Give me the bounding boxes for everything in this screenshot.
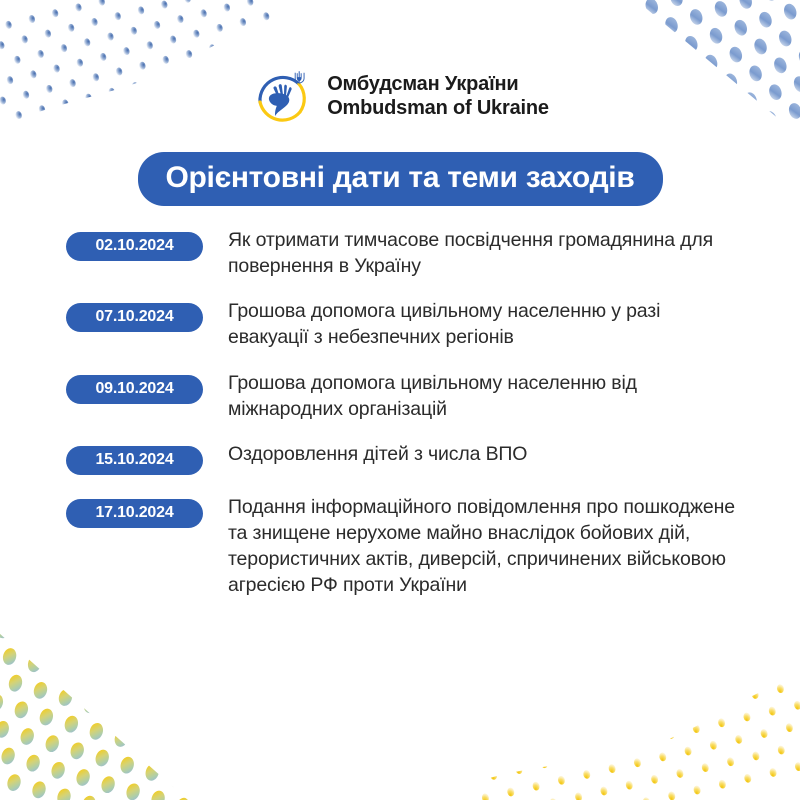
list-item: 15.10.2024 Оздоровлення дітей з числа ВП… bbox=[66, 442, 742, 475]
event-date-badge: 15.10.2024 bbox=[66, 446, 203, 475]
list-item: 07.10.2024 Грошова допомога цивільному н… bbox=[66, 299, 742, 350]
event-date-badge: 17.10.2024 bbox=[66, 499, 203, 528]
event-date-badge: 07.10.2024 bbox=[66, 303, 203, 332]
page-title: Орієнтовні дати та теми заходів bbox=[138, 152, 663, 206]
poster-canvas: Омбудсман України Ombudsman of Ukraine О… bbox=[0, 0, 800, 800]
brand-text-block: Омбудсман України Ombudsman of Ukraine bbox=[327, 73, 549, 120]
brand-name-en: Ombudsman of Ukraine bbox=[327, 97, 549, 121]
event-date-badge: 02.10.2024 bbox=[66, 232, 203, 261]
brand-logo: Омбудсман України Ombudsman of Ukraine bbox=[0, 66, 800, 128]
yellow-wave-halftone-pattern-icon bbox=[466, 636, 800, 800]
event-topic: Як отримати тимчасове посвідчення громад… bbox=[228, 228, 742, 279]
event-date-badge: 09.10.2024 bbox=[66, 375, 203, 404]
event-topic: Грошова допомога цивільному населенню ві… bbox=[228, 371, 742, 422]
list-item: 17.10.2024 Подання інформаційного повідо… bbox=[66, 495, 742, 598]
list-item: 02.10.2024 Як отримати тимчасове посвідч… bbox=[66, 228, 742, 279]
brand-name-uk: Омбудсман України bbox=[327, 73, 549, 97]
ombudsman-hand-tryzub-emblem-icon bbox=[251, 66, 313, 128]
event-topic: Оздоровлення дітей з числа ВПО bbox=[228, 442, 742, 468]
list-item: 09.10.2024 Грошова допомога цивільному н… bbox=[66, 371, 742, 422]
event-topic: Подання інформаційного повідомлення про … bbox=[228, 495, 742, 598]
event-topic: Грошова допомога цивільному населенню у … bbox=[228, 299, 742, 350]
yellow-blue-dot-grid-halftone-pattern-icon bbox=[0, 608, 222, 800]
events-schedule-list: 02.10.2024 Як отримати тимчасове посвідч… bbox=[66, 228, 742, 598]
page-title-container: Орієнтовні дати та теми заходів bbox=[0, 152, 800, 206]
